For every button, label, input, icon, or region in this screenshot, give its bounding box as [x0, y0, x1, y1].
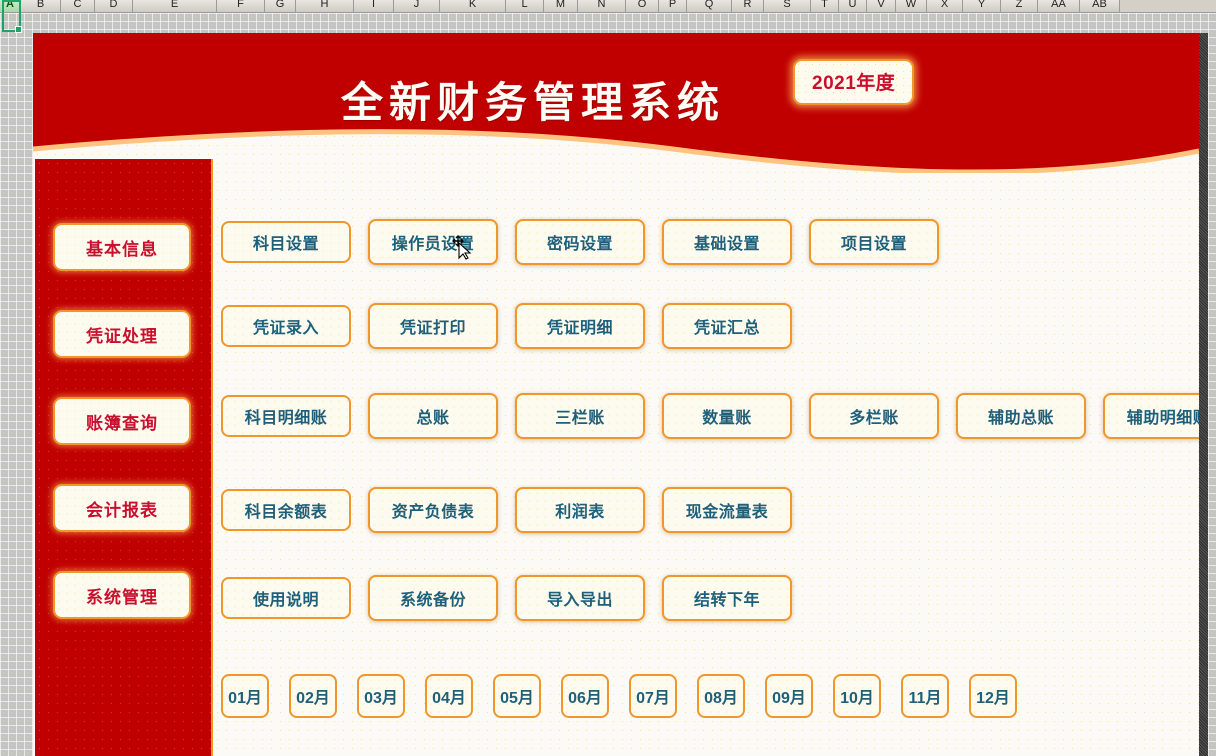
tile-button-r1-c2[interactable]: 操作员设置: [368, 219, 498, 265]
tile-button-r2-c1[interactable]: 凭证录入: [221, 305, 351, 347]
spreadsheet-column-headers[interactable]: ABCDEFGHIJKLMNOPQRSTUVWXYZAAAB: [0, 0, 1216, 13]
month-button-07[interactable]: 07月: [629, 674, 677, 718]
tile-button-r3-c5[interactable]: 多栏账: [809, 393, 939, 439]
tile-row-2: 凭证录入凭证打印凭证明细凭证汇总: [213, 305, 1199, 351]
month-button-12[interactable]: 12月: [969, 674, 1017, 718]
tile-button-r3-c7[interactable]: 辅助明细账: [1103, 393, 1199, 439]
year-badge[interactable]: 2021年度: [793, 59, 914, 105]
month-button-06[interactable]: 06月: [561, 674, 609, 718]
sidebar-item-4[interactable]: 会计报表: [53, 484, 191, 532]
column-header-p[interactable]: P: [659, 0, 687, 12]
tile-button-r1-c1[interactable]: 科目设置: [221, 221, 351, 263]
column-header-f[interactable]: F: [217, 0, 265, 12]
column-header-i[interactable]: I: [354, 0, 394, 12]
column-header-z[interactable]: Z: [1001, 0, 1038, 12]
sidebar-item-2[interactable]: 凭证处理: [53, 310, 191, 358]
tile-button-r4-c4[interactable]: 现金流量表: [662, 487, 792, 533]
tile-button-r3-c3[interactable]: 三栏账: [515, 393, 645, 439]
column-header-q[interactable]: Q: [687, 0, 732, 12]
column-header-t[interactable]: T: [811, 0, 839, 12]
sidebar-item-3[interactable]: 账簿查询: [53, 397, 191, 445]
month-row: 01月02月03月04月05月06月07月08月09月10月11月12月: [213, 674, 1199, 720]
tile-button-r4-c3[interactable]: 利润表: [515, 487, 645, 533]
fill-handle[interactable]: [15, 26, 22, 33]
month-button-02[interactable]: 02月: [289, 674, 337, 718]
sidebar-item-5[interactable]: 系统管理: [53, 571, 191, 619]
window-right-edge-shadow: [1199, 33, 1208, 756]
sidebar-item-1[interactable]: 基本信息: [53, 223, 191, 271]
tile-row-4: 科目余额表资产负债表利润表现金流量表: [213, 489, 1199, 535]
tile-button-r5-c4[interactable]: 结转下年: [662, 575, 792, 621]
column-header-u[interactable]: U: [839, 0, 867, 12]
month-button-09[interactable]: 09月: [765, 674, 813, 718]
column-header-j[interactable]: J: [394, 0, 440, 12]
column-header-n[interactable]: N: [578, 0, 626, 12]
tile-button-r2-c4[interactable]: 凭证汇总: [662, 303, 792, 349]
column-header-g[interactable]: G: [265, 0, 296, 12]
tile-button-r3-c2[interactable]: 总账: [368, 393, 498, 439]
month-button-11[interactable]: 11月: [901, 674, 949, 718]
column-header-x[interactable]: X: [927, 0, 963, 12]
column-header-s[interactable]: S: [764, 0, 811, 12]
column-header-k[interactable]: K: [440, 0, 506, 12]
column-header-y[interactable]: Y: [963, 0, 1001, 12]
column-header-l[interactable]: L: [506, 0, 544, 12]
month-button-08[interactable]: 08月: [697, 674, 745, 718]
month-button-04[interactable]: 04月: [425, 674, 473, 718]
tile-button-r1-c5[interactable]: 项目设置: [809, 219, 939, 265]
column-header-h[interactable]: H: [296, 0, 354, 12]
tile-button-r5-c3[interactable]: 导入导出: [515, 575, 645, 621]
tile-button-r2-c3[interactable]: 凭证明细: [515, 303, 645, 349]
month-button-10[interactable]: 10月: [833, 674, 881, 718]
tile-row-5: 使用说明系统备份导入导出结转下年: [213, 577, 1199, 623]
column-header-v[interactable]: V: [867, 0, 896, 12]
tile-button-r2-c2[interactable]: 凭证打印: [368, 303, 498, 349]
column-header-d[interactable]: D: [95, 0, 133, 12]
tile-row-1: 科目设置操作员设置密码设置基础设置项目设置: [213, 221, 1199, 267]
tile-button-r1-c4[interactable]: 基础设置: [662, 219, 792, 265]
tile-row-3: 科目明细账总账三栏账数量账多栏账辅助总账辅助明细账: [213, 395, 1199, 441]
column-header-e[interactable]: E: [133, 0, 217, 12]
month-button-03[interactable]: 03月: [357, 674, 405, 718]
month-button-05[interactable]: 05月: [493, 674, 541, 718]
column-header-ab[interactable]: AB: [1080, 0, 1120, 12]
tile-button-r4-c1[interactable]: 科目余额表: [221, 489, 351, 531]
tile-button-r3-c4[interactable]: 数量账: [662, 393, 792, 439]
column-header-w[interactable]: W: [896, 0, 927, 12]
column-header-o[interactable]: O: [626, 0, 659, 12]
tile-button-r3-c1[interactable]: 科目明细账: [221, 395, 351, 437]
tile-button-r3-c6[interactable]: 辅助总账: [956, 393, 1086, 439]
sidebar: 基本信息凭证处理账簿查询会计报表系统管理: [35, 159, 213, 756]
column-header-aa[interactable]: AA: [1038, 0, 1080, 12]
column-header-b[interactable]: B: [21, 0, 61, 12]
main-content: 科目设置操作员设置密码设置基础设置项目设置凭证录入凭证打印凭证明细凭证汇总科目明…: [213, 179, 1199, 756]
tile-button-r5-c1[interactable]: 使用说明: [221, 577, 351, 619]
month-button-01[interactable]: 01月: [221, 674, 269, 718]
column-header-c[interactable]: C: [61, 0, 95, 12]
finance-system-app: 全新财务管理系统 2021年度 基本信息凭证处理账簿查询会计报表系统管理 科目设…: [33, 33, 1199, 756]
column-header-r[interactable]: R: [732, 0, 764, 12]
tile-button-r4-c2[interactable]: 资产负债表: [368, 487, 498, 533]
tile-button-r5-c2[interactable]: 系统备份: [368, 575, 498, 621]
header-banner: 全新财务管理系统 2021年度: [33, 33, 1199, 173]
active-cell-selection[interactable]: [2, 0, 21, 32]
tile-button-r1-c3[interactable]: 密码设置: [515, 219, 645, 265]
column-header-m[interactable]: M: [544, 0, 578, 12]
